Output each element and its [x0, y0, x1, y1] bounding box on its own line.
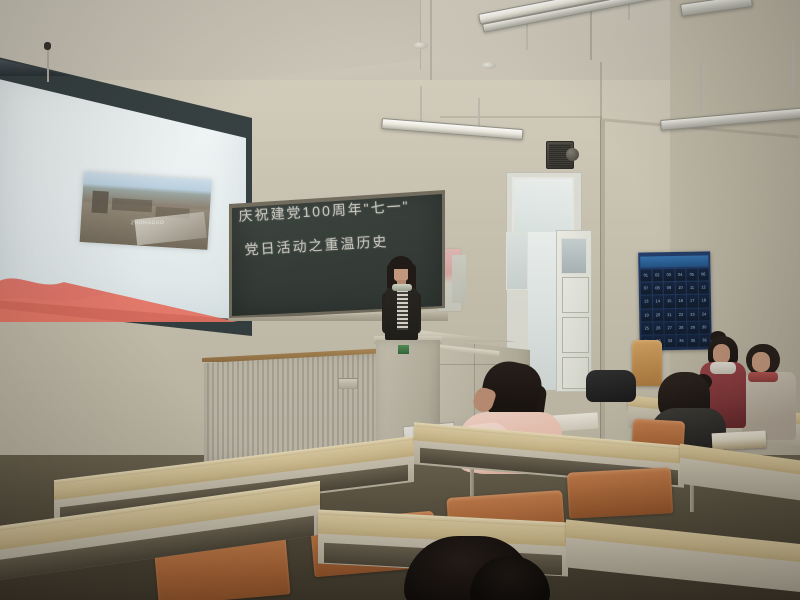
presenter [374, 256, 428, 351]
pocket-cell: 12 [698, 282, 709, 294]
pocket-cell: 04 [675, 269, 686, 281]
door-window-glass [561, 238, 587, 274]
ceiling-mount [414, 42, 428, 49]
student-body [742, 372, 796, 440]
pocket-cell: 19 [641, 309, 652, 321]
pocket-cell: 24 [699, 308, 710, 320]
pocket-cell: 22 [676, 308, 687, 320]
pocket-cell: 07 [641, 283, 652, 295]
pocket-cell: 27 [664, 322, 675, 334]
blackboard-line-2: 党日活动之重温历史 [244, 228, 441, 260]
backpack [586, 370, 636, 402]
light-hanger-rod [792, 40, 794, 92]
wall-trim [440, 116, 602, 118]
pocket-cell: 11 [687, 282, 698, 294]
pocket-cell: 25 [641, 322, 652, 334]
pocket-cell: 21 [664, 309, 675, 321]
student-scarf [748, 372, 778, 382]
ceiling-seam [420, 0, 421, 70]
pocket-cell: 10 [675, 282, 686, 294]
pocket-cell: 13 [641, 296, 652, 308]
radiator-plate [338, 378, 358, 389]
student-chair[interactable] [567, 467, 673, 518]
door-transom-window [512, 177, 574, 235]
pocket-cell: 30 [699, 321, 710, 333]
pocket-cell: 06 [698, 268, 709, 280]
pocket-cell: 34 [676, 335, 687, 347]
microphone-stand [47, 48, 49, 82]
student-light-coat [742, 344, 800, 440]
light-hanger-rod [700, 62, 702, 112]
pocket-cell: 16 [675, 295, 686, 307]
wall-conduit [600, 120, 605, 460]
pocket-cell: 08 [652, 282, 663, 294]
pocket-cell: 14 [652, 296, 663, 308]
pocket-cell: 28 [676, 321, 687, 333]
light-hanger-rod [420, 86, 422, 126]
pocket-cell: 02 [652, 269, 663, 281]
pocket-cell: 15 [664, 295, 675, 307]
wall-notice-poster-secondary [452, 255, 466, 303]
pocket-cell: 26 [653, 322, 664, 334]
pocket-chart-header [640, 255, 708, 267]
presenter-striped-shirt [397, 290, 408, 330]
presenter-collar [392, 284, 412, 291]
microphone-icon [44, 42, 51, 50]
pocket-cell: 17 [687, 295, 698, 307]
pocket-cell: 23 [687, 308, 698, 320]
door-sidelight-glass [506, 232, 528, 290]
ceiling-mount [482, 62, 496, 69]
slide-photo: ZHONGGUO [80, 172, 212, 250]
pocket-cell: 05 [686, 269, 697, 281]
student-face [752, 352, 770, 372]
door-sensor-icon [566, 148, 579, 161]
slide-caption: ZHONGGUO [131, 220, 164, 226]
pocket-cell: 33 [665, 335, 676, 347]
pocket-cell: 29 [687, 321, 698, 333]
pocket-cell: 03 [663, 269, 674, 281]
book-stack [712, 431, 767, 451]
pocket-cell: 18 [698, 295, 709, 307]
pocket-cell: 20 [653, 309, 664, 321]
pocket-cell: 09 [664, 282, 675, 294]
student-face [713, 344, 730, 364]
pocket-cell: 01 [640, 269, 651, 281]
classroom-scene: ZHONGGUO 庆祝建党100周年"七一" 党日活动之重温历史 01 [0, 0, 800, 600]
